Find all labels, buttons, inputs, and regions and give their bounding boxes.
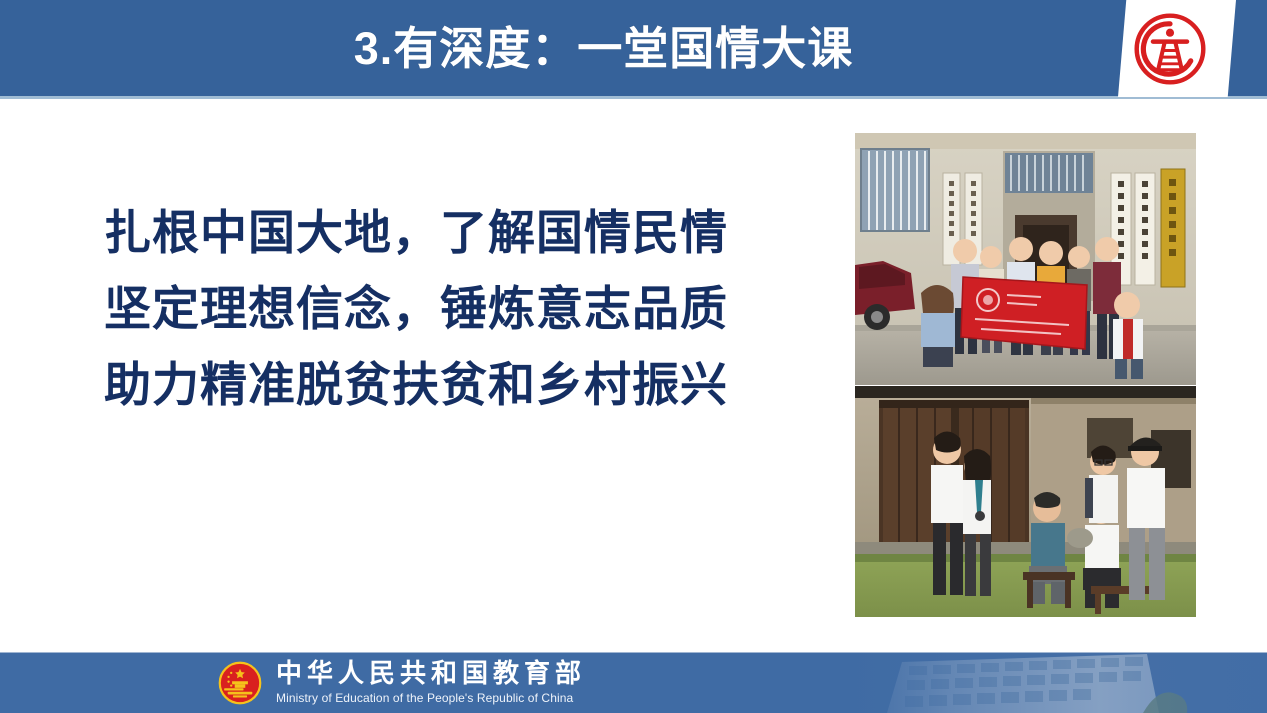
inner-mongolia-university-logo [1133, 12, 1207, 86]
slide-footer-bar: 中华人民共和国教育部 Ministry of Education of the … [0, 652, 1267, 713]
headline-line-3: 助力精准脱贫扶贫和乡村振兴 [104, 348, 804, 424]
page-title: 3.有深度：一堂国情大课 [0, 0, 1267, 96]
header-underline [0, 96, 1267, 99]
ministry-text: 中华人民共和国教育部 Ministry of Education of the … [276, 660, 586, 706]
national-emblem-of-china-icon [218, 661, 262, 705]
ministry-brand: 中华人民共和国教育部 Ministry of Education of the … [218, 655, 586, 711]
slide-root: 3.有深度：一堂国情大课 扎根中国大地，了解国情民情 坚定理想信念，锤炼意志品质… [0, 0, 1267, 713]
photo-poverty-relief-office-group [855, 133, 1196, 385]
headline-line-1: 扎根中国大地，了解国情民情 [104, 196, 804, 272]
photo-village-interview [855, 386, 1196, 617]
ministry-name-en: Ministry of Education of the People's Re… [276, 690, 586, 706]
footer-photo-fade [847, 652, 1267, 713]
headline-block: 扎根中国大地，了解国情民情 坚定理想信念，锤炼意志品质 助力精准脱贫扶贫和乡村振… [104, 196, 804, 424]
headline-line-2: 坚定理想信念，锤炼意志品质 [104, 272, 804, 348]
footer-top-divider [0, 652, 1267, 653]
ministry-name-cn: 中华人民共和国教育部 [276, 660, 586, 689]
